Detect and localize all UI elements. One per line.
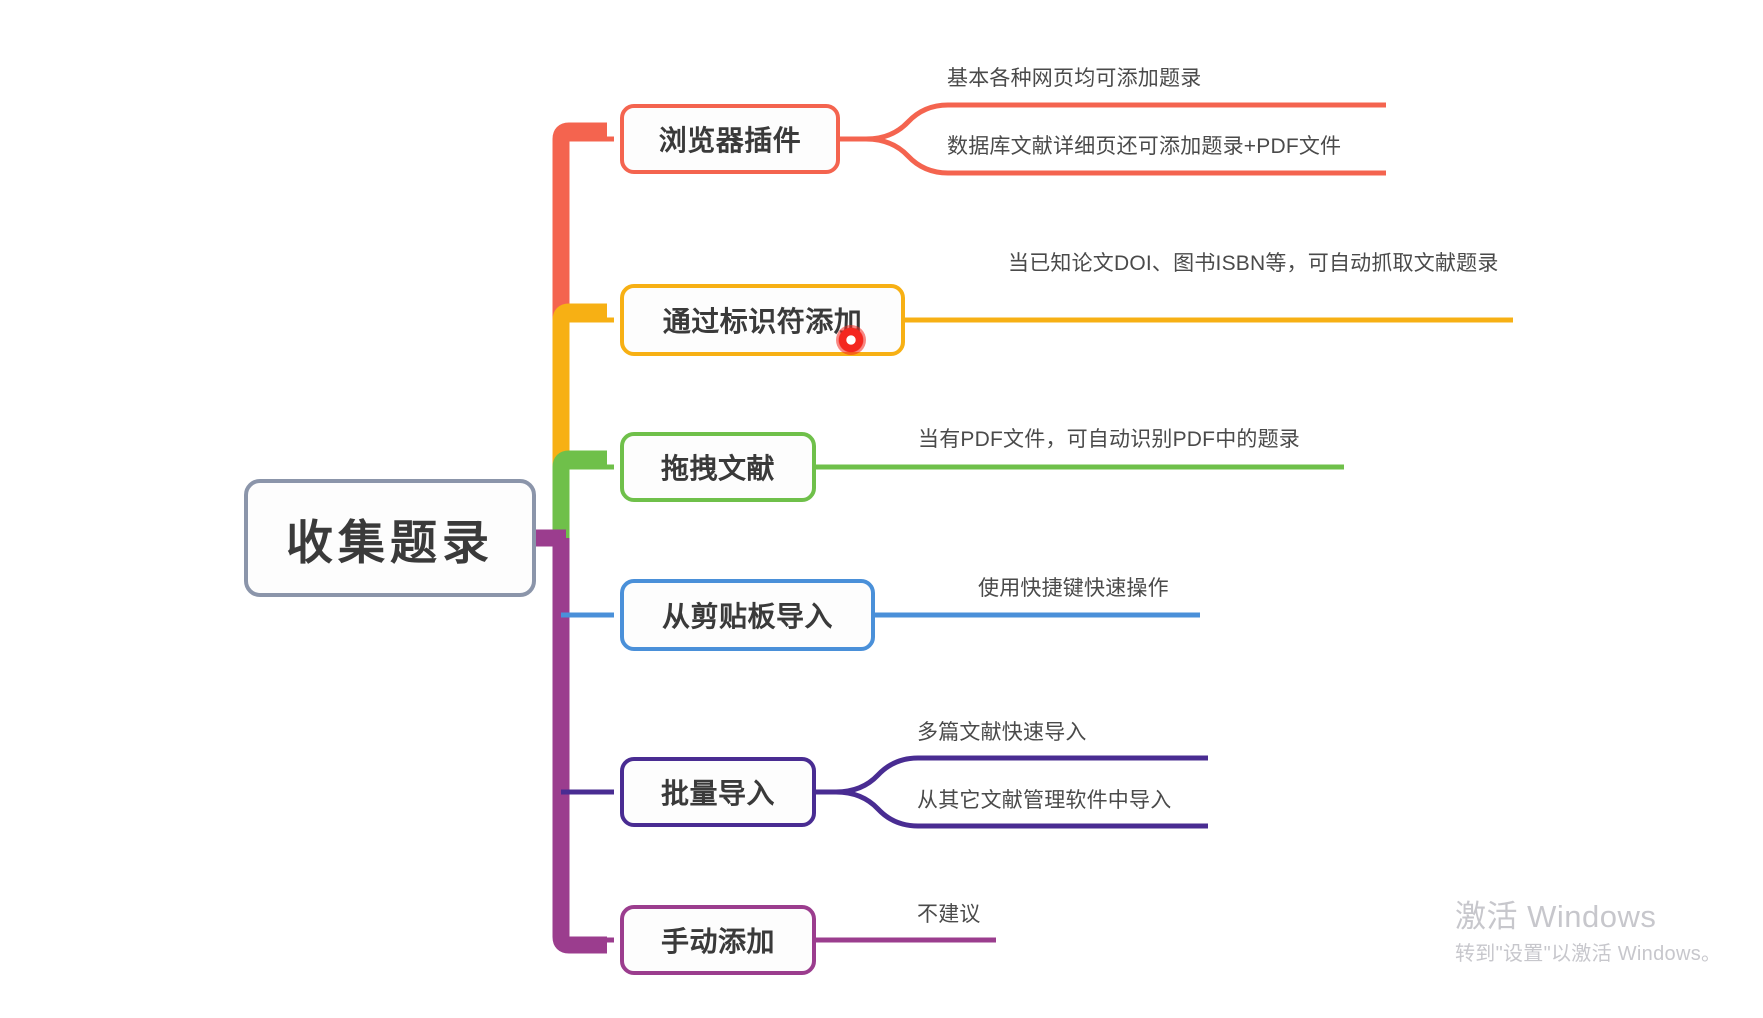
leaf-label-drag-drop-1[interactable]: 当有PDF文件，可自动识别PDF中的题录 xyxy=(918,425,1368,455)
click-marker-icon xyxy=(836,325,866,355)
watermark-subtitle: 转到"设置"以激活 Windows。 xyxy=(1455,941,1721,967)
leaf-label-browser-plugin-1[interactable]: 基本各种网页均可添加题录 xyxy=(947,64,1417,94)
branch-node-label: 从剪贴板导入 xyxy=(662,595,833,635)
watermark-title: 激活 Windows xyxy=(1455,898,1721,937)
branch-node-drag-drop-literature[interactable]: 拖拽文献 xyxy=(620,432,816,502)
root-node[interactable]: 收集题录 xyxy=(244,479,536,597)
leaf-label-add-by-identifier-1[interactable]: 当已知论文DOI、图书ISBN等，可自动抓取文献题录 xyxy=(1008,249,1518,279)
branch-node-browser-plugin[interactable]: 浏览器插件 xyxy=(620,104,840,174)
leaf-label-clipboard-1[interactable]: 使用快捷键快速操作 xyxy=(978,574,1308,604)
branch-node-label: 浏览器插件 xyxy=(659,119,802,159)
branch-node-import-from-clipboard[interactable]: 从剪贴板导入 xyxy=(620,579,875,651)
branch-node-manual-add[interactable]: 手动添加 xyxy=(620,905,816,975)
branch-node-label: 通过标识符添加 xyxy=(663,300,863,340)
leaf-label-batch-import-1[interactable]: 多篇文献快速导入 xyxy=(917,718,1247,748)
branch-node-batch-import[interactable]: 批量导入 xyxy=(620,757,816,827)
leaf-label-batch-import-2[interactable]: 从其它文献管理软件中导入 xyxy=(917,786,1297,816)
branch-node-label: 拖拽文献 xyxy=(661,447,775,487)
mindmap-canvas[interactable]: 收集题录 浏览器插件 通过标识符添加 拖拽文献 从剪贴板导入 批量导入 手动添加… xyxy=(0,0,1763,1018)
branch-node-label: 手动添加 xyxy=(661,920,775,960)
leaf-label-manual-add-1[interactable]: 不建议 xyxy=(917,900,1117,930)
root-node-label: 收集题录 xyxy=(286,504,494,573)
leaf-label-browser-plugin-2[interactable]: 数据库文献详细页还可添加题录+PDF文件 xyxy=(947,132,1447,162)
windows-activation-watermark: 激活 Windows 转到"设置"以激活 Windows。 xyxy=(1455,898,1721,967)
branch-node-label: 批量导入 xyxy=(661,772,775,812)
